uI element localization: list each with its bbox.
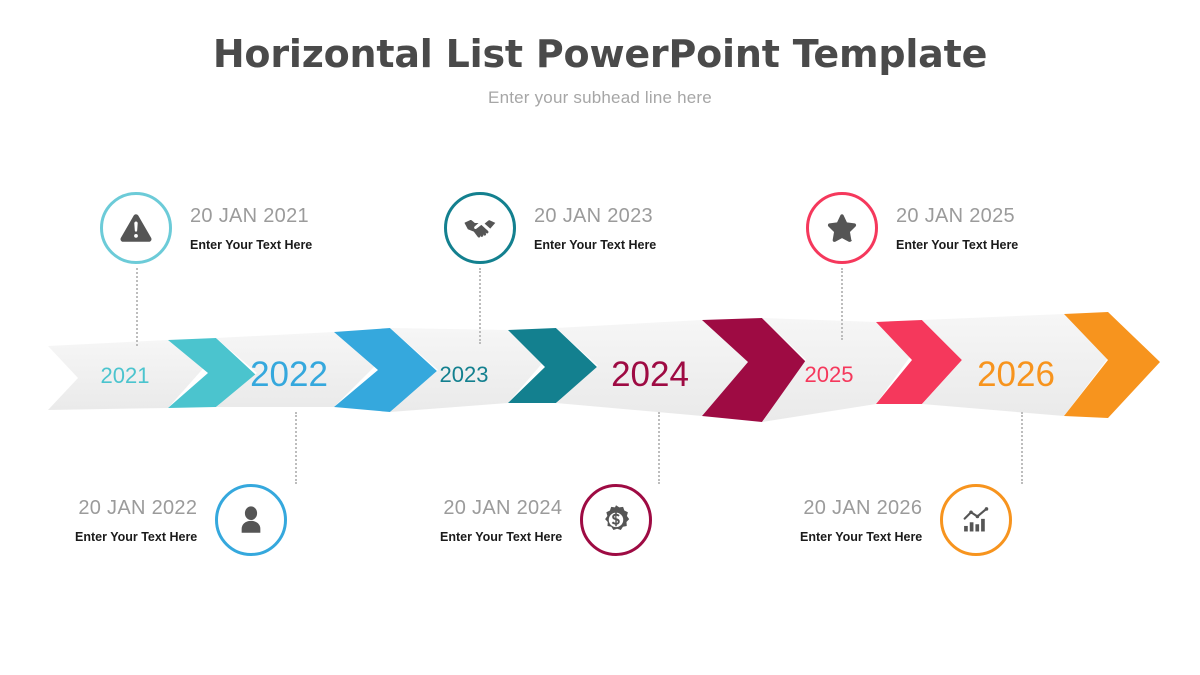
milestone-date-2023: 20 JAN 2023 — [534, 205, 653, 227]
bar-chart-growth-icon — [959, 503, 993, 537]
warning-triangle-icon — [118, 210, 154, 246]
milestone-2022[interactable]: 20 JAN 2022 Enter Your Text Here — [75, 484, 287, 556]
milestone-text-2021: 20 JAN 2021 Enter Your Text Here — [190, 205, 312, 252]
milestone-description-2026: Enter Your Text Here — [800, 530, 922, 544]
milestone-circle-2024 — [580, 484, 652, 556]
milestone-text-2024: 20 JAN 2024 Enter Your Text Here — [440, 497, 562, 544]
milestone-description-2024: Enter Your Text Here — [440, 530, 562, 544]
milestone-2026[interactable]: 20 JAN 2026 Enter Your Text Here — [800, 484, 1012, 556]
milestone-text-2025: 20 JAN 2025 Enter Your Text Here — [896, 205, 1018, 252]
page-subtitle: Enter your subhead line here — [0, 88, 1200, 108]
connector-2024 — [658, 412, 660, 484]
milestone-description-2021: Enter Your Text Here — [190, 238, 312, 252]
milestone-description-2022: Enter Your Text Here — [75, 530, 197, 544]
milestone-circle-2023 — [444, 192, 516, 264]
milestone-circle-2021 — [100, 192, 172, 264]
connector-2021 — [136, 268, 138, 346]
milestone-circle-2025 — [806, 192, 878, 264]
milestone-text-2023: 20 JAN 2023 Enter Your Text Here — [534, 205, 656, 252]
milestone-2024[interactable]: 20 JAN 2024 Enter Your Text Here — [440, 484, 652, 556]
milestone-2025[interactable]: 20 JAN 2025 Enter Your Text Here — [806, 192, 1018, 264]
milestone-2021[interactable]: 20 JAN 2021 Enter Your Text Here — [100, 192, 312, 264]
milestone-text-2026: 20 JAN 2026 Enter Your Text Here — [800, 497, 922, 544]
milestone-circle-2026 — [940, 484, 1012, 556]
timeline-band — [0, 300, 1200, 445]
star-icon — [824, 210, 860, 246]
milestone-date-2026: 20 JAN 2026 — [803, 497, 922, 519]
page-title: Horizontal List PowerPoint Template — [0, 34, 1200, 76]
connector-2026 — [1021, 412, 1023, 484]
milestone-description-2025: Enter Your Text Here — [896, 238, 1018, 252]
milestone-text-2022: 20 JAN 2022 Enter Your Text Here — [75, 497, 197, 544]
milestone-2023[interactable]: 20 JAN 2023 Enter Your Text Here — [444, 192, 656, 264]
handshake-icon — [462, 210, 498, 246]
milestone-date-2022: 20 JAN 2022 — [78, 497, 197, 519]
milestone-description-2023: Enter Your Text Here — [534, 238, 656, 252]
user-person-icon — [234, 503, 268, 537]
milestone-circle-2022 — [215, 484, 287, 556]
milestone-date-2021: 20 JAN 2021 — [190, 205, 309, 227]
connector-2022 — [295, 412, 297, 484]
slide-header: Horizontal List PowerPoint Template Ente… — [0, 34, 1200, 108]
milestone-date-2024: 20 JAN 2024 — [443, 497, 562, 519]
milestone-date-2025: 20 JAN 2025 — [896, 205, 1015, 227]
connector-2023 — [479, 268, 481, 344]
connector-2025 — [841, 268, 843, 340]
gear-dollar-icon — [599, 503, 633, 537]
